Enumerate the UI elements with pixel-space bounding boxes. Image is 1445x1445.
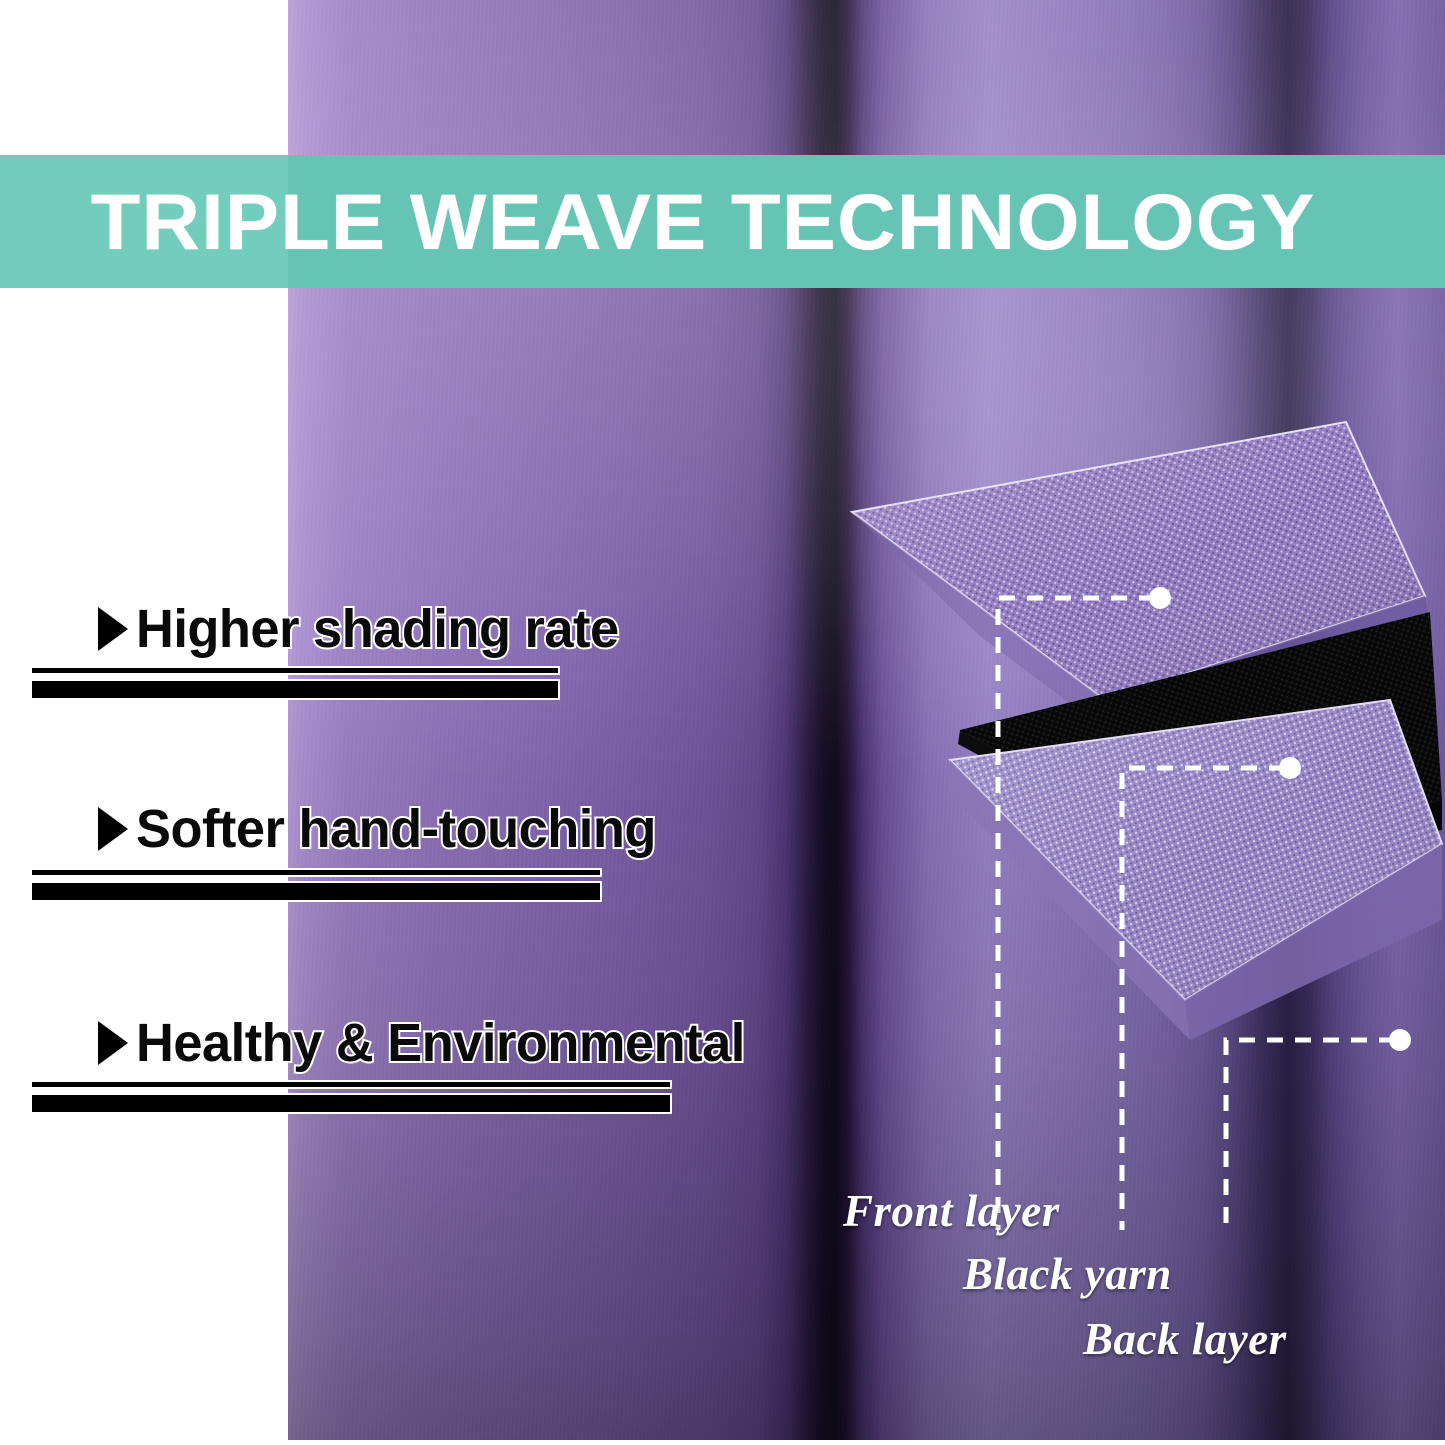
callout-dot-back (1389, 1029, 1411, 1051)
feature-underline-2 (30, 868, 602, 902)
feature-underline-1 (30, 666, 560, 700)
feature-item-1: Higher shading rate (98, 598, 634, 660)
triple-weave-layer-diagram (830, 400, 1445, 1230)
underline-thin-3 (30, 1080, 672, 1089)
feature-item-3: Healthy & Environmental (98, 1012, 764, 1074)
bottom-white-strip (0, 1440, 1445, 1445)
layer-label-front: Front layer (843, 1185, 1060, 1237)
triangle-right-icon (98, 1021, 128, 1065)
triangle-right-icon (98, 807, 128, 851)
feature-underline-3 (30, 1080, 672, 1114)
feature-label-3: Healthy & Environmental (136, 1012, 745, 1074)
feature-label-1: Higher shading rate (136, 598, 619, 660)
layer-label-back: Back layer (1083, 1313, 1287, 1365)
callout-dot-front (1149, 587, 1171, 609)
layer-label-black-yarn: Black yarn (963, 1248, 1172, 1300)
callout-dot-yarn (1279, 757, 1301, 779)
page-title: TRIPLE WEAVE TECHNOLOGY (0, 155, 1445, 288)
triangle-right-icon (98, 607, 128, 651)
feature-item-2: Softer hand-touching (98, 798, 672, 860)
underline-thin-2 (30, 868, 602, 877)
underline-thin-1 (30, 666, 560, 675)
underline-thick-3 (30, 1093, 672, 1114)
feature-label-2: Softer hand-touching (136, 798, 656, 860)
underline-thick-1 (30, 679, 560, 700)
infographic-canvas: TRIPLE WEAVE TECHNOLOGY Higher shading r… (0, 0, 1445, 1445)
callout-leader-back (1226, 1040, 1395, 1230)
header-banner: TRIPLE WEAVE TECHNOLOGY (0, 155, 1445, 288)
layer-back (948, 700, 1442, 1040)
underline-thick-2 (30, 881, 602, 902)
